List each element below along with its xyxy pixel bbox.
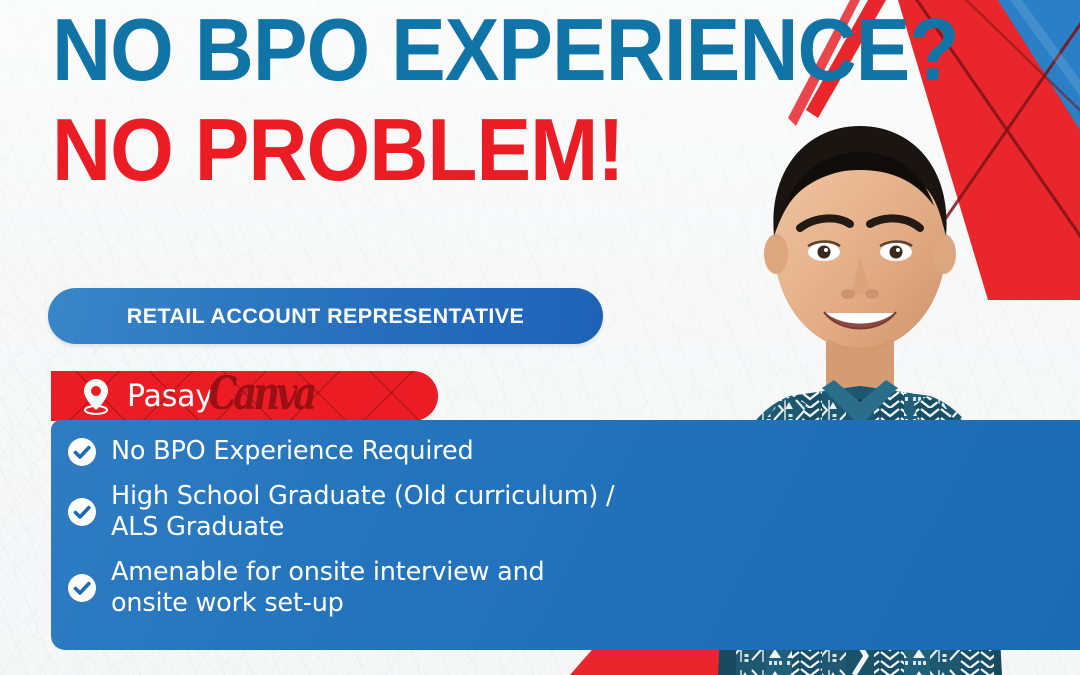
requirement-text: High School Graduate (Old curriculum) / … — [111, 481, 614, 543]
requirements-panel: No BPO Experience Required High School G… — [51, 420, 1080, 650]
location-label: Pasay — [127, 379, 213, 414]
list-item: Amenable for onsite interview and onsite… — [67, 557, 1070, 619]
list-item: No BPO Experience Required — [67, 436, 1070, 467]
headline-block: NO BPO EXPERIENCE? NO PROBLEM! — [52, 8, 1062, 193]
requirements-list: No BPO Experience Required High School G… — [67, 436, 1070, 620]
check-circle-icon — [67, 497, 97, 527]
headline-line-1: NO BPO EXPERIENCE? — [52, 8, 991, 92]
list-item: High School Graduate (Old curriculum) / … — [67, 481, 1070, 543]
map-pin-icon — [79, 377, 113, 415]
check-circle-icon — [67, 573, 97, 603]
role-title-label: RETAIL ACCOUNT REPRESENTATIVE — [127, 304, 524, 329]
headline-line-2: NO PROBLEM! — [52, 108, 991, 192]
requirement-text: No BPO Experience Required — [111, 436, 473, 467]
role-title-pill: RETAIL ACCOUNT REPRESENTATIVE — [48, 288, 603, 344]
check-circle-icon — [67, 437, 97, 467]
requirement-text: Amenable for onsite interview and onsite… — [111, 557, 545, 619]
location-banner: Pasay — [51, 371, 438, 421]
poster-canvas: NO BPO EXPERIENCE? NO PROBLEM! RETAIL AC… — [0, 0, 1080, 675]
